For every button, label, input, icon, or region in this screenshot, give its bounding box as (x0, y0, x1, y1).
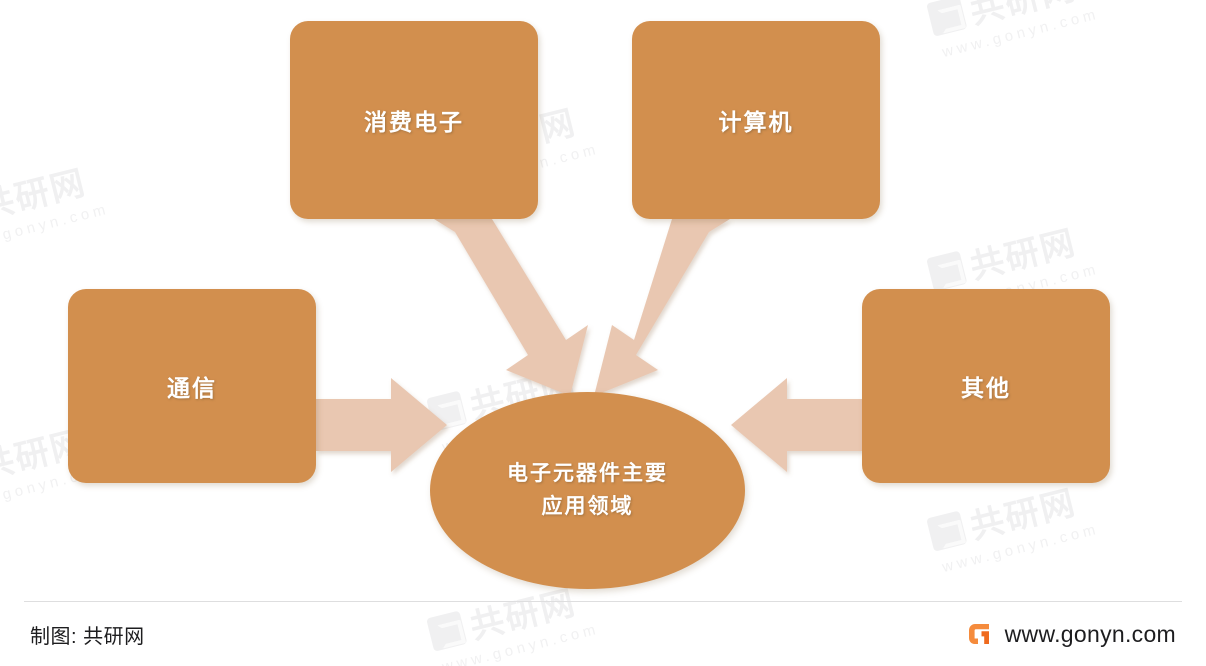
arrow-communications-to-center (316, 378, 447, 472)
footer-site[interactable]: www.gonyn.com (967, 621, 1176, 648)
center-node[interactable]: 电子元器件主要 应用领域 (430, 392, 745, 589)
arrow-others-to-center (731, 378, 862, 472)
node-others-label: 其他 (961, 369, 1011, 403)
gonyn-g-logo-icon (967, 621, 993, 647)
center-node-line-1: 电子元器件主要 (507, 458, 668, 491)
node-communications-label: 通信 (167, 369, 217, 403)
footer: 制图: 共研网 www.gonyn.com (0, 602, 1206, 666)
node-communications[interactable]: 通信 (68, 289, 316, 483)
node-computer-label: 计算机 (719, 103, 794, 137)
center-node-line-2: 应用领域 (542, 491, 634, 524)
diagram-body: 消费电子 计算机 通信 其他 电子元器件主要 应用领域 (0, 0, 1206, 666)
arrow-consumer-electronics-to-center (434, 219, 588, 396)
footer-credit: 制图: 共研网 (30, 620, 145, 649)
arrow-computer-to-center (594, 219, 730, 396)
node-computer[interactable]: 计算机 (632, 21, 880, 219)
node-consumer-electronics-label: 消费电子 (364, 103, 464, 137)
diagram-canvas: 共研网 www.gonyn.com 共研网 www.gonyn.com 共研网 … (0, 0, 1206, 666)
footer-url: www.gonyn.com (1005, 621, 1176, 648)
node-consumer-electronics[interactable]: 消费电子 (290, 21, 538, 219)
node-others[interactable]: 其他 (862, 289, 1110, 483)
